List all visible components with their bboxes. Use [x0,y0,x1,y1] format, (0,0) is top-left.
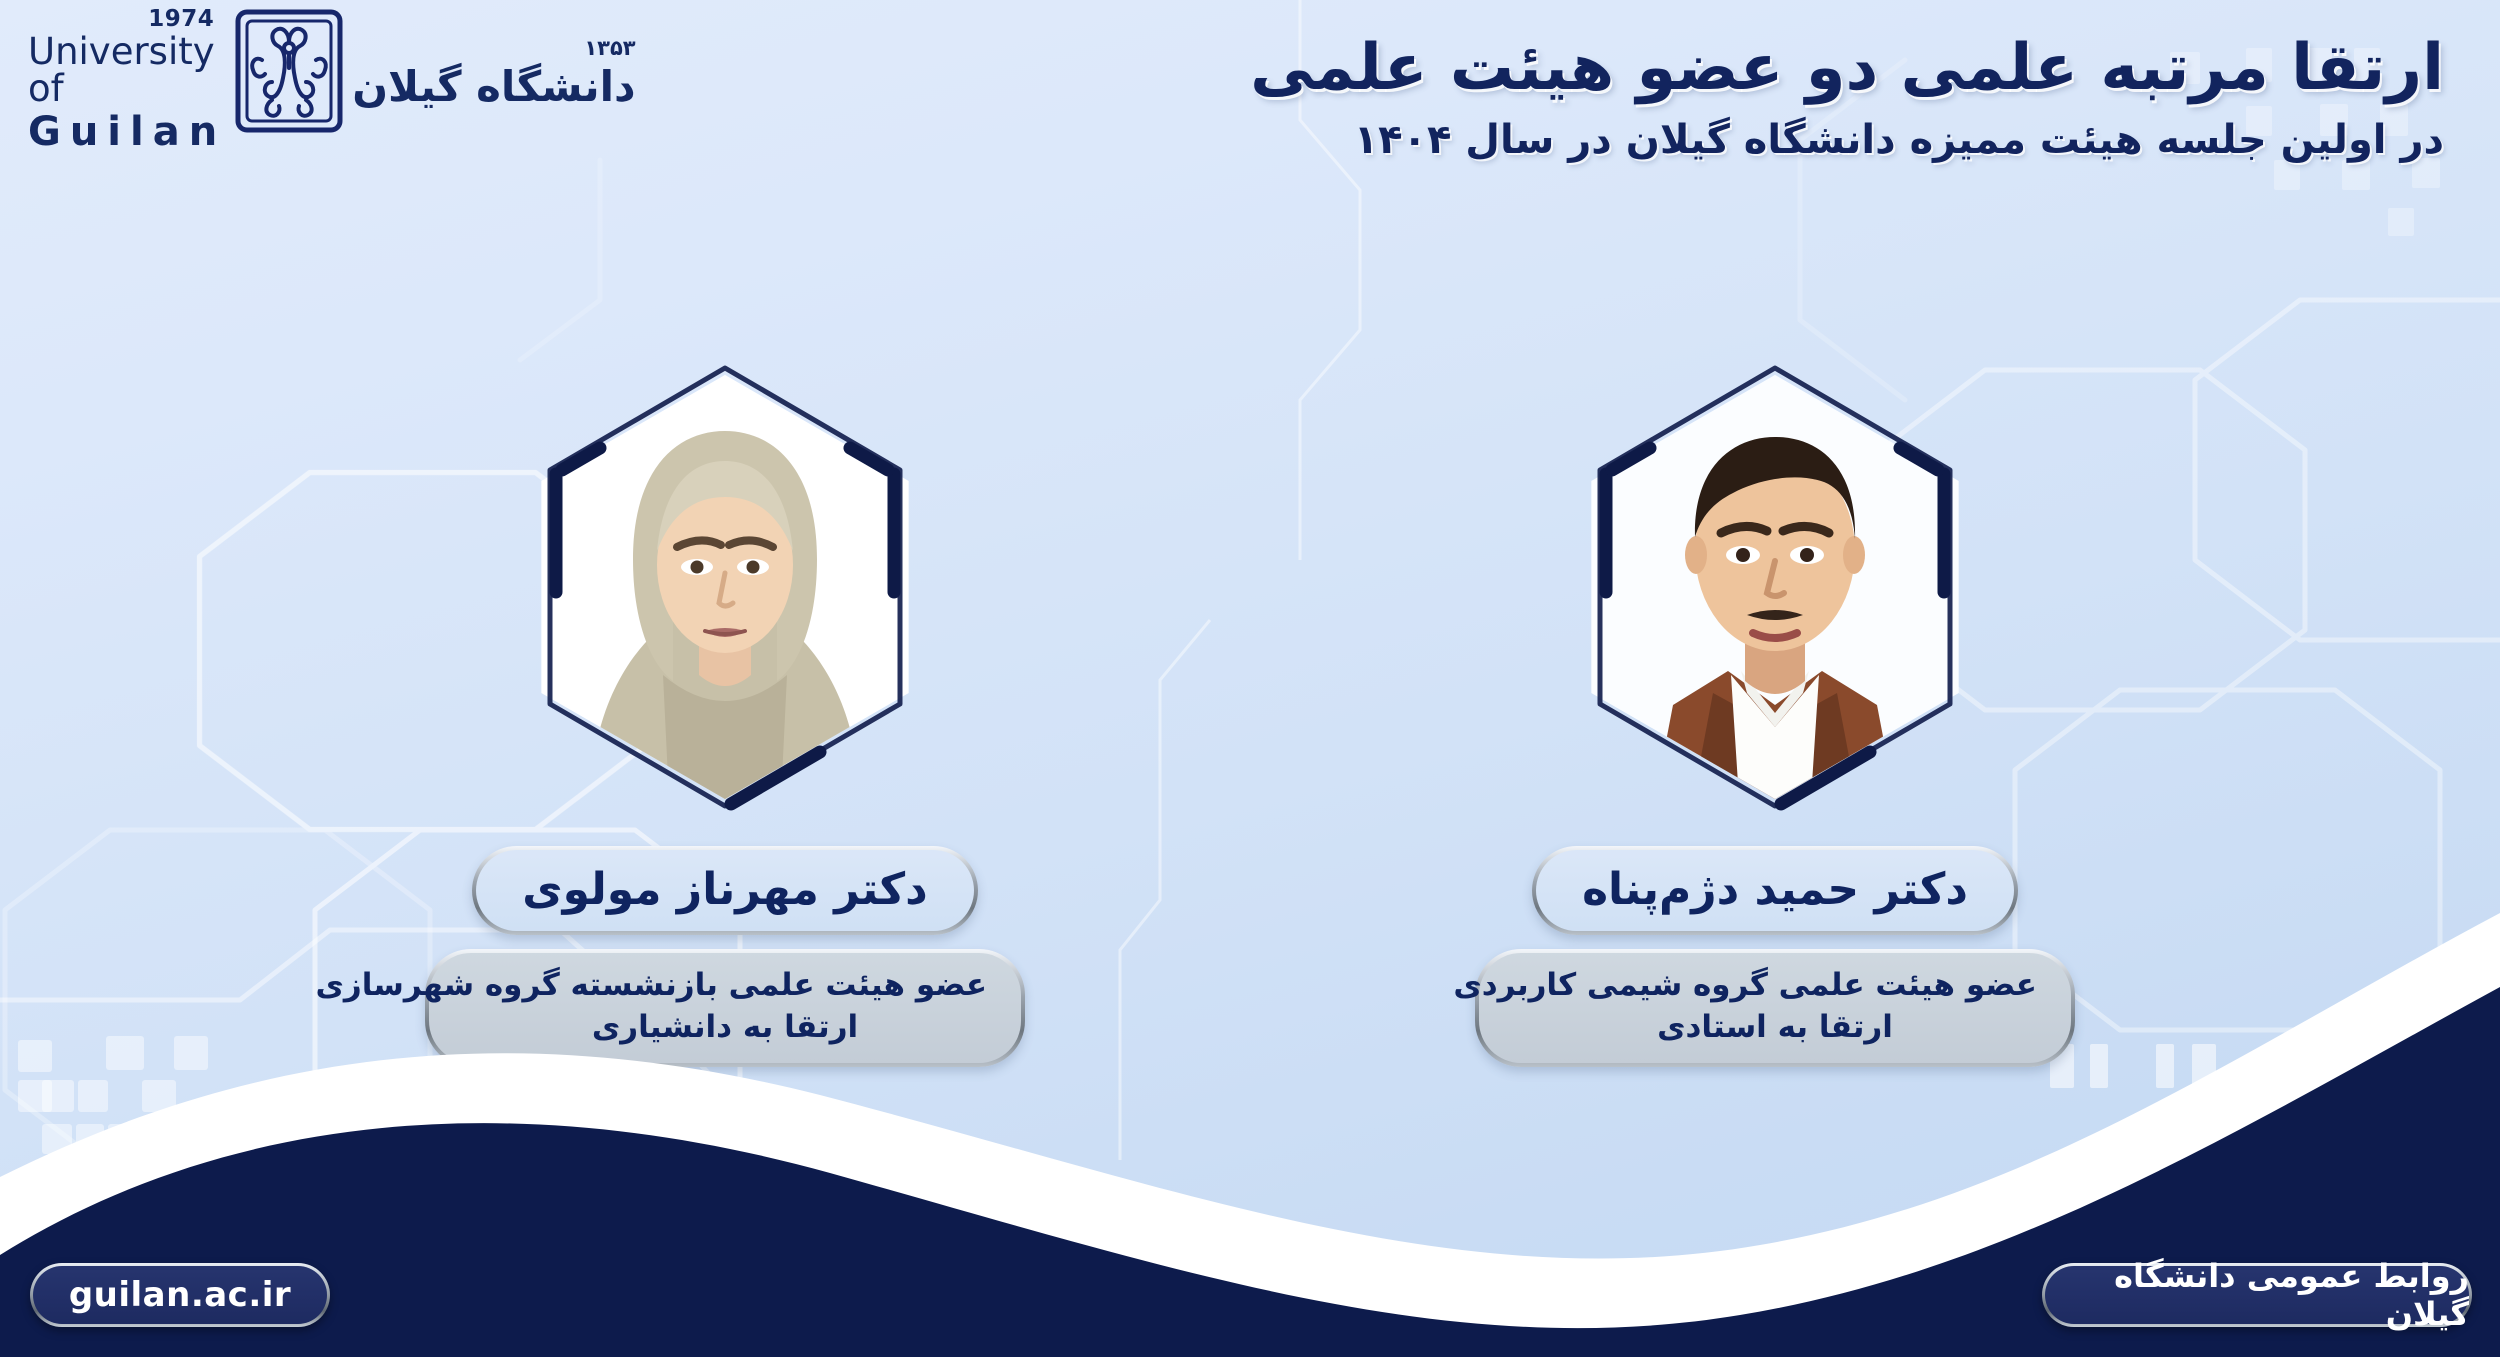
logo-line1-en: University of [28,33,226,107]
avatar [490,352,960,822]
logo-year-fa: ۱۳۵۳ [584,36,635,60]
page-subtitle: در اولین جلسه هیئت ممیزه دانشگاه گیلان د… [1044,114,2444,166]
page-title: ارتقا مرتبه علمی دو عضو هیئت علمی [1044,28,2444,110]
logo-name-fa: دانشگاه گیلان [352,62,635,111]
logo-year-en: 1974 [148,8,214,31]
logo-english-text: 1974 University of Guilan [28,0,226,152]
header-titles: ارتقا مرتبه علمی دو عضو هیئت علمی در اول… [1044,28,2444,166]
poster-canvas: 1974 University of Guilan [0,0,2500,1357]
hexagon-frame-icon [1540,352,2010,822]
logo-farsi-text: ۱۳۵۳ دانشگاه گیلان [352,36,635,111]
website-url: guilan.ac.ir [69,1275,291,1315]
website-badge[interactable]: guilan.ac.ir [30,1263,330,1327]
guilan-emblem-icon [234,8,344,138]
public-relations-label: روابط عمومی دانشگاه گیلان [2045,1257,2469,1333]
public-relations-badge: روابط عمومی دانشگاه گیلان [2042,1263,2472,1327]
hexagon-frame-icon [490,352,960,822]
university-logo: 1974 University of Guilan [28,8,498,138]
avatar [1540,352,2010,822]
logo-line2-en: Guilan [28,112,226,152]
